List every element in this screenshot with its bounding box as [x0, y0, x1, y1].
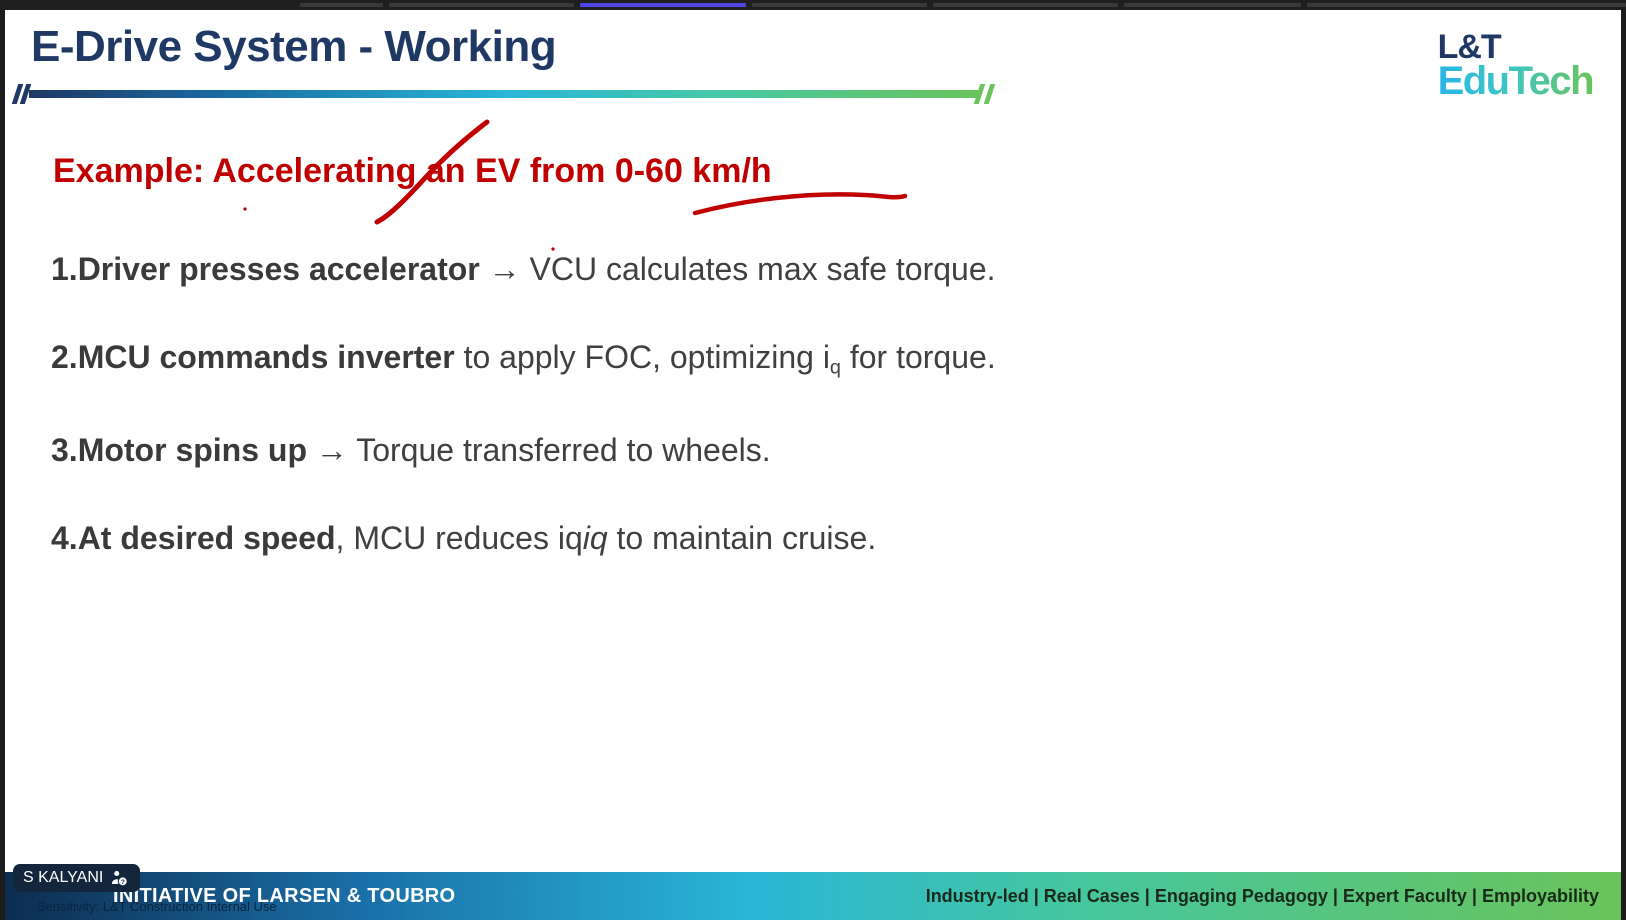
step-body-2: to apply FOC, optimizing iq for torque.: [455, 339, 996, 375]
footer-bar: INITIATIVE OF LARSEN & TOUBRO Industry-l…: [5, 872, 1621, 920]
step-body-1: → VCU calculates max safe torque.: [480, 251, 996, 287]
step-item-2: 2.MCU commands inverter to apply FOC, op…: [51, 338, 1551, 380]
step-lead-4: 4.At desired speed: [51, 520, 336, 556]
person-question-icon: ?: [110, 869, 128, 887]
presenter-name-badge[interactable]: S KALYANI ?: [13, 864, 140, 892]
step-item-4: 4.At desired speed, MCU reduces iqiq to …: [51, 519, 1551, 557]
divider-bar: [29, 90, 979, 98]
subscript-2: q: [830, 357, 841, 379]
brand-logo: L&T EduTech: [1438, 32, 1593, 100]
tool-segment-6[interactable]: [1124, 3, 1301, 7]
italic-term-4: iq: [583, 520, 608, 556]
logo-text-edutech: EduTech: [1438, 63, 1593, 100]
step-item-1: 1.Driver presses accelerator → VCU calcu…: [51, 250, 1551, 288]
step-lead-2: 2.MCU commands inverter: [51, 339, 455, 375]
steps-list: 1.Driver presses accelerator → VCU calcu…: [51, 250, 1551, 608]
wavy-underline-icon: [695, 194, 905, 213]
tool-segment-4[interactable]: [752, 3, 927, 7]
tool-segment-7[interactable]: [1307, 3, 1626, 7]
divider-tick-right-2: [984, 84, 995, 104]
step-lead-3: 3.Motor spins up: [51, 432, 307, 468]
sensitivity-label: Sensitivity: L&T Construction Internal U…: [37, 899, 277, 914]
slide-canvas: E-Drive System - Working L&T EduTech Exa…: [5, 10, 1621, 920]
step-body-4: , MCU reduces iqiq to maintain cruise.: [336, 520, 877, 556]
presenter-name: S KALYANI: [23, 869, 103, 887]
page-title: E-Drive System - Working: [31, 22, 556, 72]
title-divider: [11, 82, 1001, 112]
step-lead-1: 1.Driver presses accelerator: [51, 251, 480, 287]
example-heading: Example: Accelerating an EV from 0-60 km…: [53, 152, 772, 191]
svg-text:?: ?: [121, 879, 125, 886]
tool-segment-3[interactable]: [580, 3, 746, 7]
step-item-3: 3.Motor spins up → Torque transferred to…: [51, 431, 1551, 469]
tool-segment-1[interactable]: [300, 3, 383, 7]
ink-dot-1: [243, 207, 246, 210]
app-toolbar: [0, 0, 1626, 10]
step-body-3: → Torque transferred to wheels.: [307, 432, 771, 468]
tool-segment-5[interactable]: [933, 3, 1118, 7]
screen: E-Drive System - Working L&T EduTech Exa…: [0, 0, 1626, 920]
tool-segment-2[interactable]: [389, 3, 574, 7]
footer-right-text: Industry-led | Real Cases | Engaging Ped…: [926, 886, 1599, 907]
